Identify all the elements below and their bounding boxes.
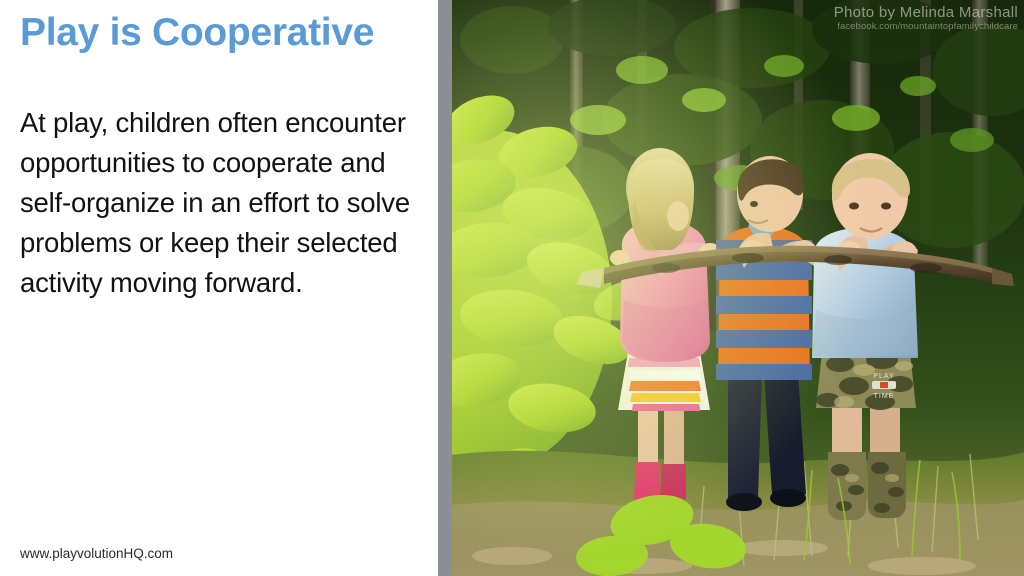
- slide-canvas: Play is Cooperative At play, children of…: [0, 0, 1024, 576]
- text-pane: Play is Cooperative At play, children of…: [0, 0, 438, 576]
- body-paragraph: At play, children often encounter opport…: [20, 103, 438, 303]
- photo-forest-children: PLAY TIME: [452, 0, 1024, 576]
- page-title: Play is Cooperative: [20, 10, 430, 56]
- vertical-divider: [438, 0, 452, 576]
- photo-illustration: PLAY TIME: [452, 0, 1024, 576]
- footer-website-url[interactable]: www.playvolutionHQ.com: [20, 546, 173, 561]
